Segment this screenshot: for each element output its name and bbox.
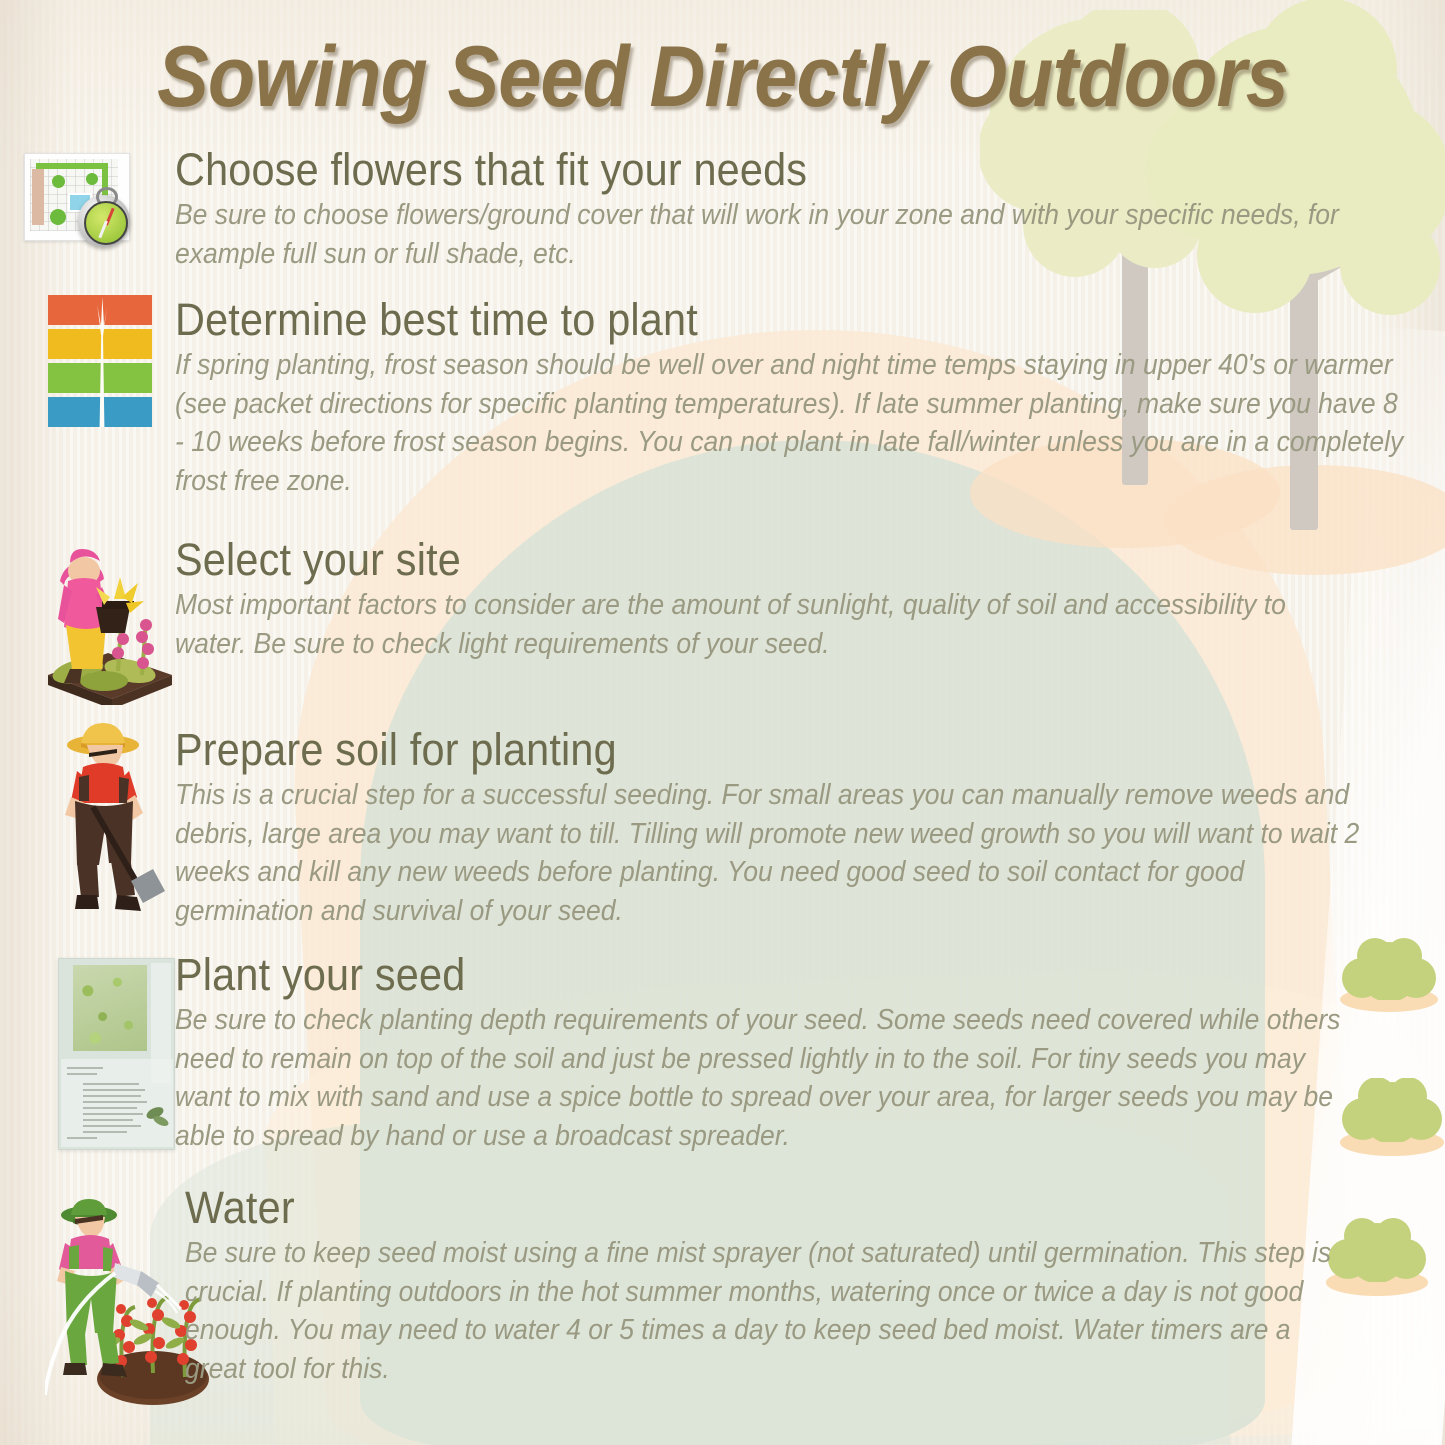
gardener-with-potted-plant-icon xyxy=(30,525,180,705)
section-water: Water Be sure to keep seed moist using a… xyxy=(20,1185,1420,1410)
section-heading: Select your site xyxy=(175,537,1325,583)
season-band-summer xyxy=(48,363,152,393)
section-plant-seed: Plant your seed Be sure to check plantin… xyxy=(20,950,1420,1145)
section-body: This is a crucial step for a successful … xyxy=(175,776,1384,931)
section-select-site: Select your site Most important factors … xyxy=(20,525,1420,705)
section-body: Be sure to keep seed moist using a fine … xyxy=(185,1234,1338,1389)
garden-blueprint-compass-icon xyxy=(20,145,140,260)
section-heading: Choose flowers that fit your needs xyxy=(175,147,1325,193)
page-title: Sowing Seed Directly Outdoors xyxy=(72,28,1373,127)
section-heading: Plant your seed xyxy=(175,952,1325,998)
section-heading: Determine best time to plant xyxy=(175,297,1325,343)
section-prepare-soil: Prepare soil for planting This is a cruc… xyxy=(20,715,1420,915)
section-body: Most important factors to consider are t… xyxy=(175,586,1319,664)
section-heading: Prepare soil for planting xyxy=(175,727,1325,773)
section-body: Be sure to check planting depth requirem… xyxy=(175,1001,1365,1156)
section-determine-time: Determine best time to plant If spring p… xyxy=(20,295,1420,435)
gardener-watering-plants-icon xyxy=(45,1193,205,1418)
packet-logo-icon xyxy=(139,1099,173,1133)
infographic-poster: Sowing Seed Directly Outdoors Choose f xyxy=(0,0,1445,1445)
packet-photo xyxy=(73,965,147,1051)
section-choose-flowers: Choose flowers that fit your needs Be su… xyxy=(20,145,1420,260)
section-body: Be sure to choose flowers/ground cover t… xyxy=(175,196,1412,274)
farmer-figure xyxy=(45,715,195,915)
compass-icon xyxy=(78,195,130,247)
seed-packet-icon xyxy=(58,958,188,1153)
seed-packet xyxy=(58,958,175,1150)
farmer-with-shovel-icon xyxy=(45,715,195,915)
gardener-figure xyxy=(30,525,180,705)
section-heading: Water xyxy=(185,1185,1335,1231)
season-band-spring xyxy=(48,329,152,359)
four-seasons-tree-icon xyxy=(48,295,158,435)
section-body: If spring planting, frost season should … xyxy=(175,346,1407,501)
